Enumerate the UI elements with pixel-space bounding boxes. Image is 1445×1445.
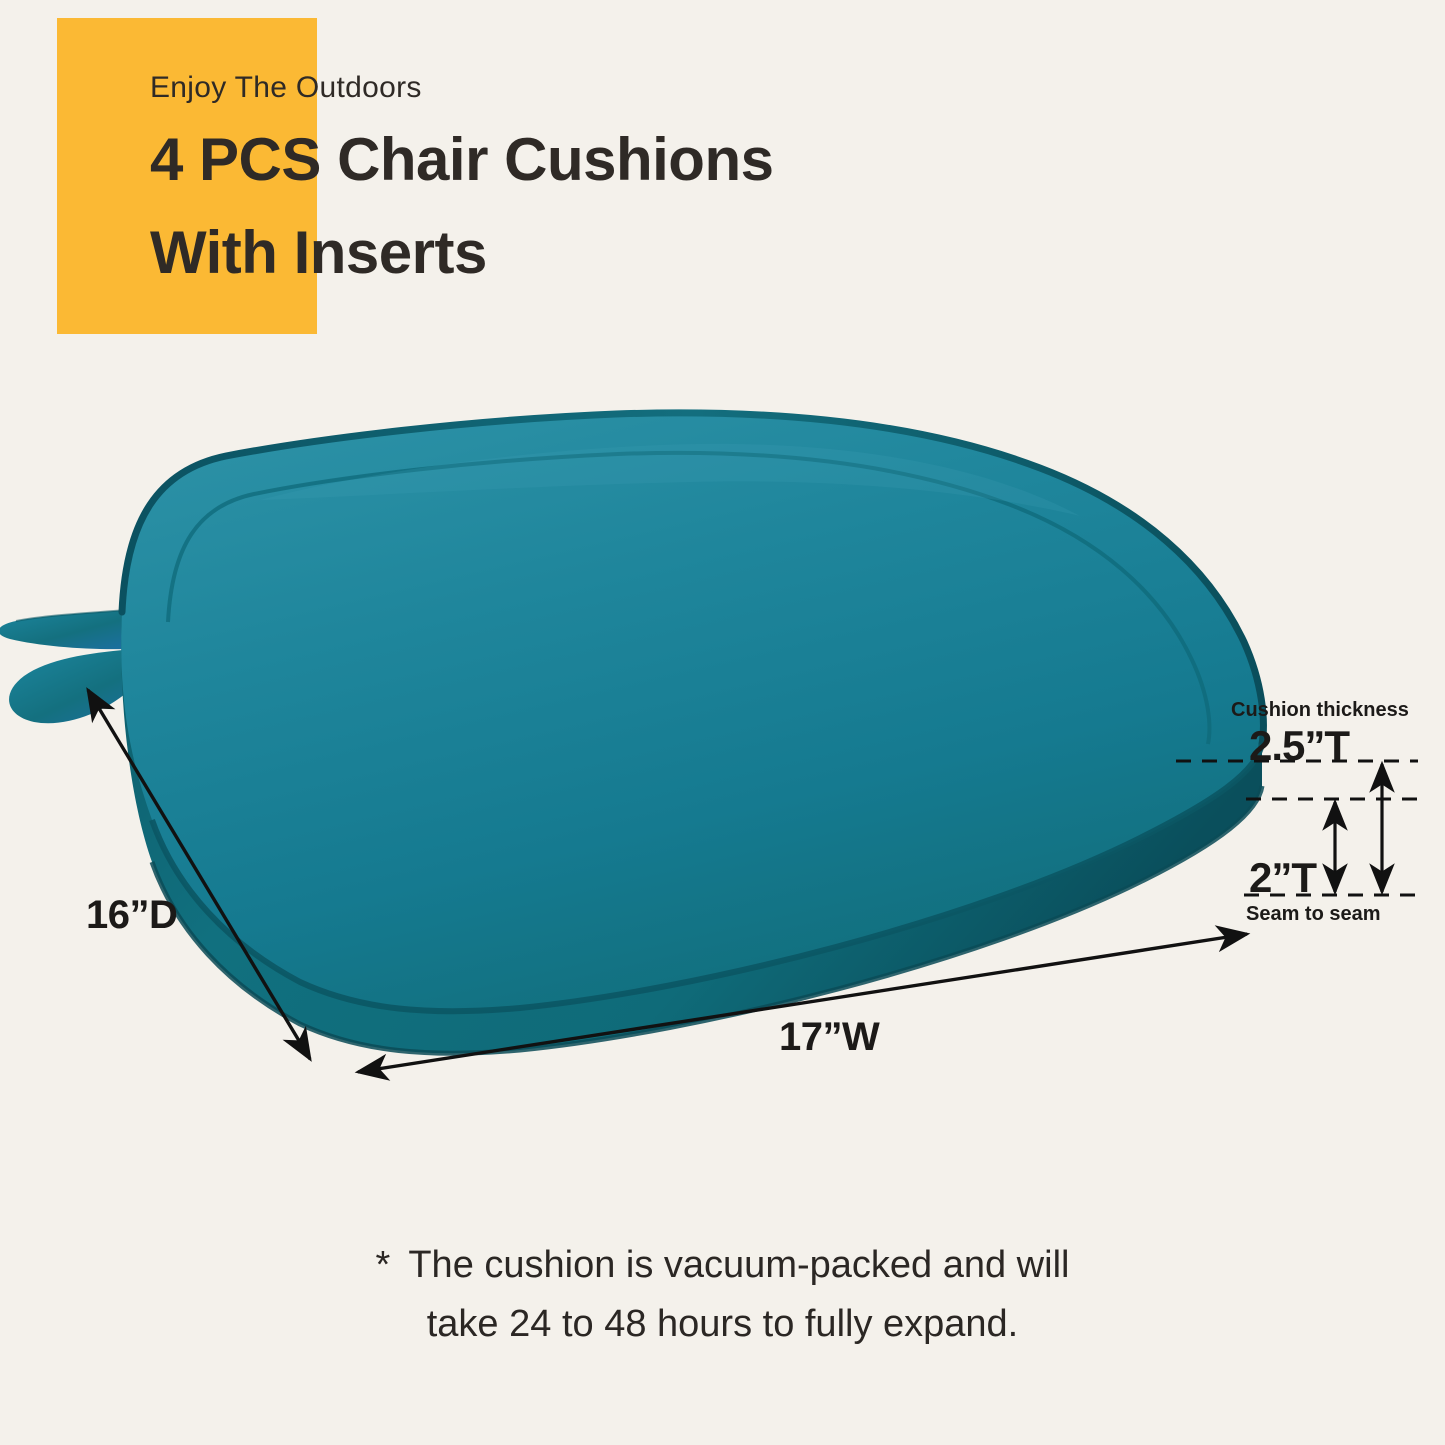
cushion-highlight xyxy=(260,444,1080,516)
footnote-block: *The cushion is vacuum-packed and will t… xyxy=(0,1236,1445,1354)
cushion-thickness-caption: Cushion thickness xyxy=(1231,699,1409,722)
cushion-top-face xyxy=(121,413,1263,1011)
seam-to-seam-caption: Seam to seam xyxy=(1246,903,1381,926)
seam-thickness-label: 2”T xyxy=(1249,854,1316,902)
width-label: 17”W xyxy=(779,1015,879,1060)
footnote-line-1: The cushion is vacuum-packed and will xyxy=(408,1244,1069,1286)
headline-line-1: 4 PCS Chair Cushions xyxy=(150,122,1250,199)
cushion-gusset xyxy=(121,612,1262,1053)
depth-label: 16”D xyxy=(86,893,177,938)
cushion-piping-top xyxy=(122,413,1263,744)
header-block: Enjoy The Outdoors 4 PCS Chair Cushions … xyxy=(150,70,1250,292)
depth-dimension-arrow xyxy=(88,690,310,1059)
tie-strap-icon xyxy=(0,608,168,723)
total-thickness-label: 2.5”T xyxy=(1249,722,1349,770)
footnote-line-2: take 24 to 48 hours to fully expand. xyxy=(0,1295,1445,1354)
cushion-hem-seam xyxy=(152,786,1262,1053)
headline-line-2: With Inserts xyxy=(150,215,1250,292)
asterisk-icon: * xyxy=(376,1244,391,1286)
cushion-inner-seam xyxy=(168,453,1209,744)
product-infographic: Enjoy The Outdoors 4 PCS Chair Cushions … xyxy=(0,0,1445,1445)
eyebrow-text: Enjoy The Outdoors xyxy=(150,70,1250,106)
cushion-seam-lower xyxy=(152,744,1262,1011)
